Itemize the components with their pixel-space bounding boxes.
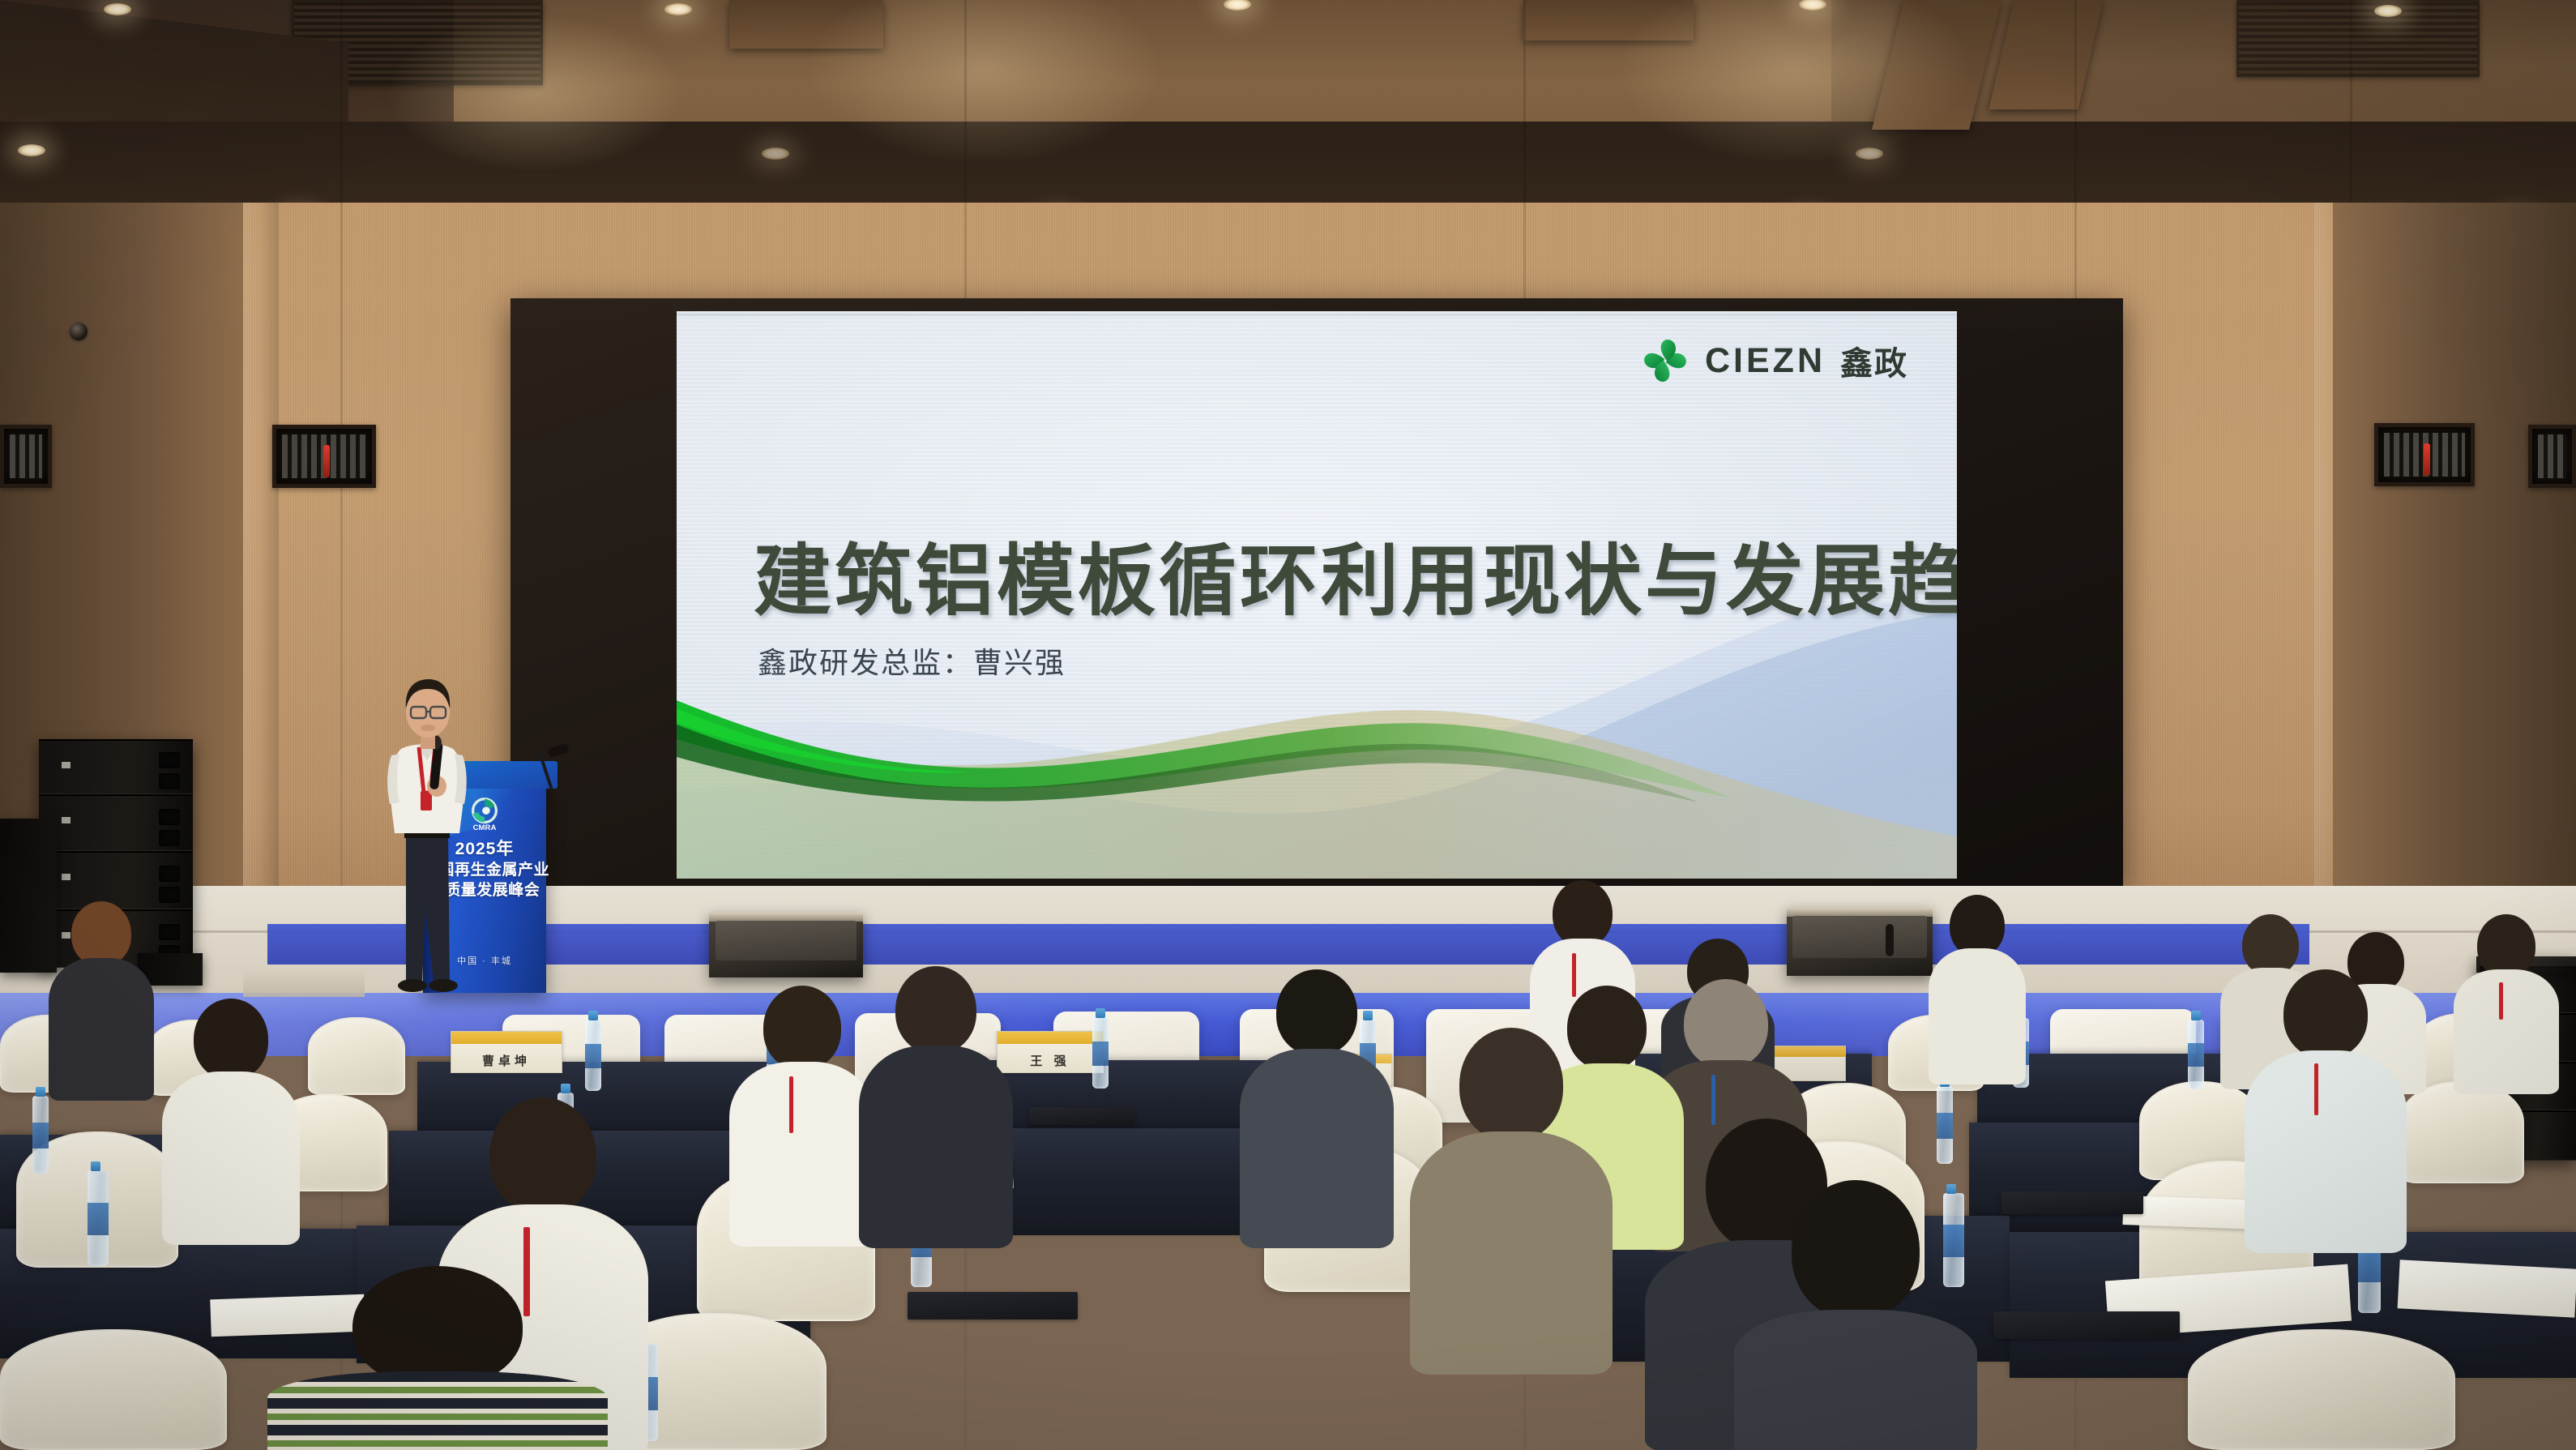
person-torso: [1240, 1049, 1394, 1248]
person-head: [1459, 1028, 1563, 1141]
ceiling-downlight: [2374, 5, 2402, 17]
person-head: [352, 1266, 523, 1388]
logo-latin-text: CIEZN: [1705, 341, 1826, 381]
wall-niche: [2374, 423, 2475, 486]
audience-person: [162, 999, 300, 1242]
slide-logo: CIEZN 鑫政: [1640, 336, 1908, 386]
audience-person: [1929, 895, 2026, 1083]
water-bottle: [1092, 1017, 1109, 1089]
wall-niche: [2528, 425, 2576, 488]
person-torso: [267, 1371, 608, 1450]
bottle-label: [88, 1203, 109, 1235]
person-head: [1684, 979, 1768, 1068]
monitor-grille: [1792, 916, 1927, 958]
person-torso: [49, 958, 154, 1101]
placard-header-band: [998, 1032, 1103, 1044]
line-array-module: [39, 794, 193, 851]
wall-niche: [0, 425, 52, 488]
handout-paper: [2398, 1260, 2576, 1317]
bottle-label: [585, 1044, 601, 1068]
bottle-label: [32, 1123, 49, 1149]
placard-name-text: 王 强: [1030, 1052, 1070, 1072]
ceiling-downlight: [762, 148, 789, 160]
monitor-handle-slot: [1886, 924, 1894, 956]
ceiling-speaker-icon: [70, 323, 88, 340]
person-torso: [2245, 1050, 2407, 1253]
bottle-label: [2188, 1043, 2204, 1067]
audience-person: [49, 901, 154, 1096]
ceiling-downlight: [104, 3, 131, 15]
ceiling-beam-4: [1523, 0, 1694, 41]
audience-person: [1734, 1180, 1977, 1450]
person-head: [71, 901, 131, 966]
audience-person: [1240, 969, 1394, 1245]
audience-chair-foreground: [2188, 1329, 2455, 1450]
handout-paper: [2122, 1196, 2261, 1230]
audience-person: [859, 966, 1013, 1245]
audience-person: [2454, 914, 2559, 1091]
audience-person-foreground: [267, 1266, 608, 1450]
lanyard: [1711, 1075, 1715, 1125]
ceiling-beam-3: [729, 0, 883, 49]
ceiling-downlight: [18, 144, 45, 156]
placard-header-band: [451, 1032, 562, 1044]
slide-title: 建筑铝模板循环利用现状与发展趋势: [754, 518, 1957, 631]
speaker-brand-badge: [62, 874, 70, 880]
person-torso: [2454, 969, 2559, 1094]
water-bottle: [88, 1170, 109, 1266]
person-head: [763, 986, 841, 1070]
lanyard: [2499, 982, 2503, 1020]
person-torso: [1734, 1310, 1977, 1450]
wall-niche: [272, 425, 376, 488]
ceiling-downlight: [664, 3, 692, 15]
speaker-port: [159, 809, 180, 825]
notebook: [2001, 1191, 2143, 1214]
ceiling-air-vent-right: [2236, 0, 2480, 77]
line-array-module: [39, 739, 193, 794]
bottle-label: [2358, 1249, 2381, 1282]
water-bottle: [585, 1020, 601, 1091]
conference-hall-photo: CIEZN 鑫政 建筑铝模板循环利用现状与发展趋势 鑫政研发总监：曹兴强 CMR…: [0, 0, 2576, 1450]
notebook: [1993, 1311, 2180, 1339]
audience-chair: [2399, 1081, 2524, 1183]
notebook: [1029, 1107, 1134, 1125]
notebook: [908, 1292, 1078, 1320]
person-head: [194, 999, 268, 1080]
name-placard: 曹卓坤: [451, 1031, 562, 1073]
screen-top-edge: [677, 311, 1957, 316]
person-head: [1950, 895, 2005, 956]
audience-chair: [308, 1017, 405, 1095]
speaker-port: [159, 866, 180, 882]
person-head: [2477, 914, 2535, 977]
wall-shadow-right: [2333, 203, 2576, 956]
person-torso: [859, 1046, 1013, 1248]
stage-monitor-left: [709, 913, 863, 977]
person-torso: [1929, 948, 2026, 1084]
stage-monitor-right: [1787, 908, 1933, 976]
person-head: [2283, 969, 2368, 1059]
monitor-grille: [716, 921, 857, 961]
ciezn-pinwheel-icon: [1640, 336, 1690, 386]
striped-polo-shirt: [267, 1371, 608, 1450]
audience-person: [2245, 969, 2407, 1248]
speaker-brand-badge: [62, 762, 70, 768]
led-screen-frame: CIEZN 鑫政 建筑铝模板循环利用现状与发展趋势 鑫政研发总监：曹兴强: [511, 298, 2123, 886]
person-head: [2242, 914, 2299, 976]
niche-marker: [323, 445, 330, 477]
speaker-port: [159, 887, 180, 903]
person-torso: [162, 1071, 300, 1245]
audience-person: [1410, 1028, 1613, 1368]
speaker-port: [159, 752, 180, 768]
bottle-label: [1092, 1042, 1109, 1066]
person-head: [1276, 969, 1357, 1055]
audience-person: [729, 986, 875, 1243]
person-head: [1792, 1180, 1920, 1320]
presenter-speaker: [369, 665, 490, 997]
person-torso: [1410, 1131, 1613, 1375]
stage-step: [243, 969, 365, 997]
person-head: [895, 966, 976, 1054]
slide-subtitle: 鑫政研发总监：曹兴强: [758, 639, 1066, 682]
logo-chinese-text: 鑫政: [1840, 337, 1908, 384]
audience-chair-foreground: [0, 1329, 227, 1450]
speaker-brand-badge: [62, 817, 70, 823]
person-torso: [729, 1062, 875, 1247]
bottle-label: [1937, 1113, 1953, 1140]
lanyard: [2314, 1063, 2318, 1115]
person-head: [489, 1097, 596, 1214]
water-bottle: [32, 1096, 49, 1174]
person-head: [1553, 880, 1613, 947]
speaker-port: [159, 773, 180, 789]
speaker-port: [159, 830, 180, 846]
lanyard: [789, 1076, 793, 1133]
speaker-port: [159, 924, 180, 940]
ceiling-downlight: [1856, 148, 1883, 160]
placard-name-text: 曹卓坤: [482, 1052, 531, 1072]
led-screen: CIEZN 鑫政 建筑铝模板循环利用现状与发展趋势 鑫政研发总监：曹兴强: [677, 311, 1957, 879]
water-bottle: [2188, 1020, 2204, 1089]
water-bottle: [1937, 1086, 1953, 1164]
niche-marker: [2424, 443, 2430, 476]
